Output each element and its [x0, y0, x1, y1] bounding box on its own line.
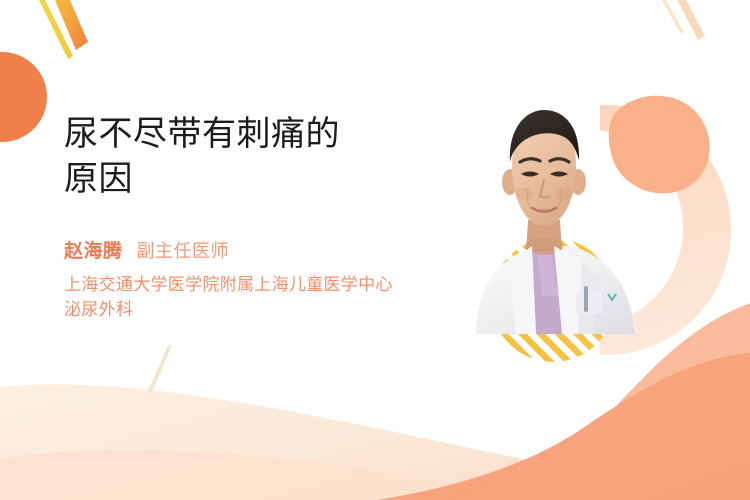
cover-card: 尿不尽带有刺痛的原因 赵海腾 副主任医师 上海交通大学医学院附属上海儿童医学中心… [0, 0, 750, 500]
affiliation: 上海交通大学医学院附属上海儿童医学中心 泌尿外科 [64, 272, 484, 322]
top-left-yellow-stroke [27, 0, 73, 59]
bottom-cream-wave [0, 384, 750, 500]
doctor-name: 赵海腾 [64, 236, 123, 263]
byline: 赵海腾 副主任医师 [64, 236, 484, 263]
affiliation-hospital: 上海交通大学医学院附属上海儿童医学中心 [64, 272, 484, 297]
page-title-line2: 原因 [64, 160, 133, 198]
top-left-gold-stroke [44, 0, 88, 50]
text-block: 尿不尽带有刺痛的原因 赵海腾 副主任医师 上海交通大学医学院附属上海儿童医学中心… [64, 112, 484, 322]
bottom-left-faint-stroke [148, 345, 172, 392]
left-orange-circle [0, 52, 47, 142]
affiliation-department: 泌尿外科 [64, 297, 484, 322]
coat-pocket [576, 292, 602, 314]
page-title-line1: 尿不尽带有刺痛的 [64, 115, 340, 153]
top-right-pale-stroke-a [666, 0, 705, 40]
page-title: 尿不尽带有刺痛的原因 [64, 112, 484, 202]
top-right-pale-stroke-b [648, 0, 684, 34]
doctor-title: 副主任医师 [137, 237, 230, 263]
pocket-pen [584, 286, 588, 312]
bottom-peach-wave [0, 450, 750, 500]
